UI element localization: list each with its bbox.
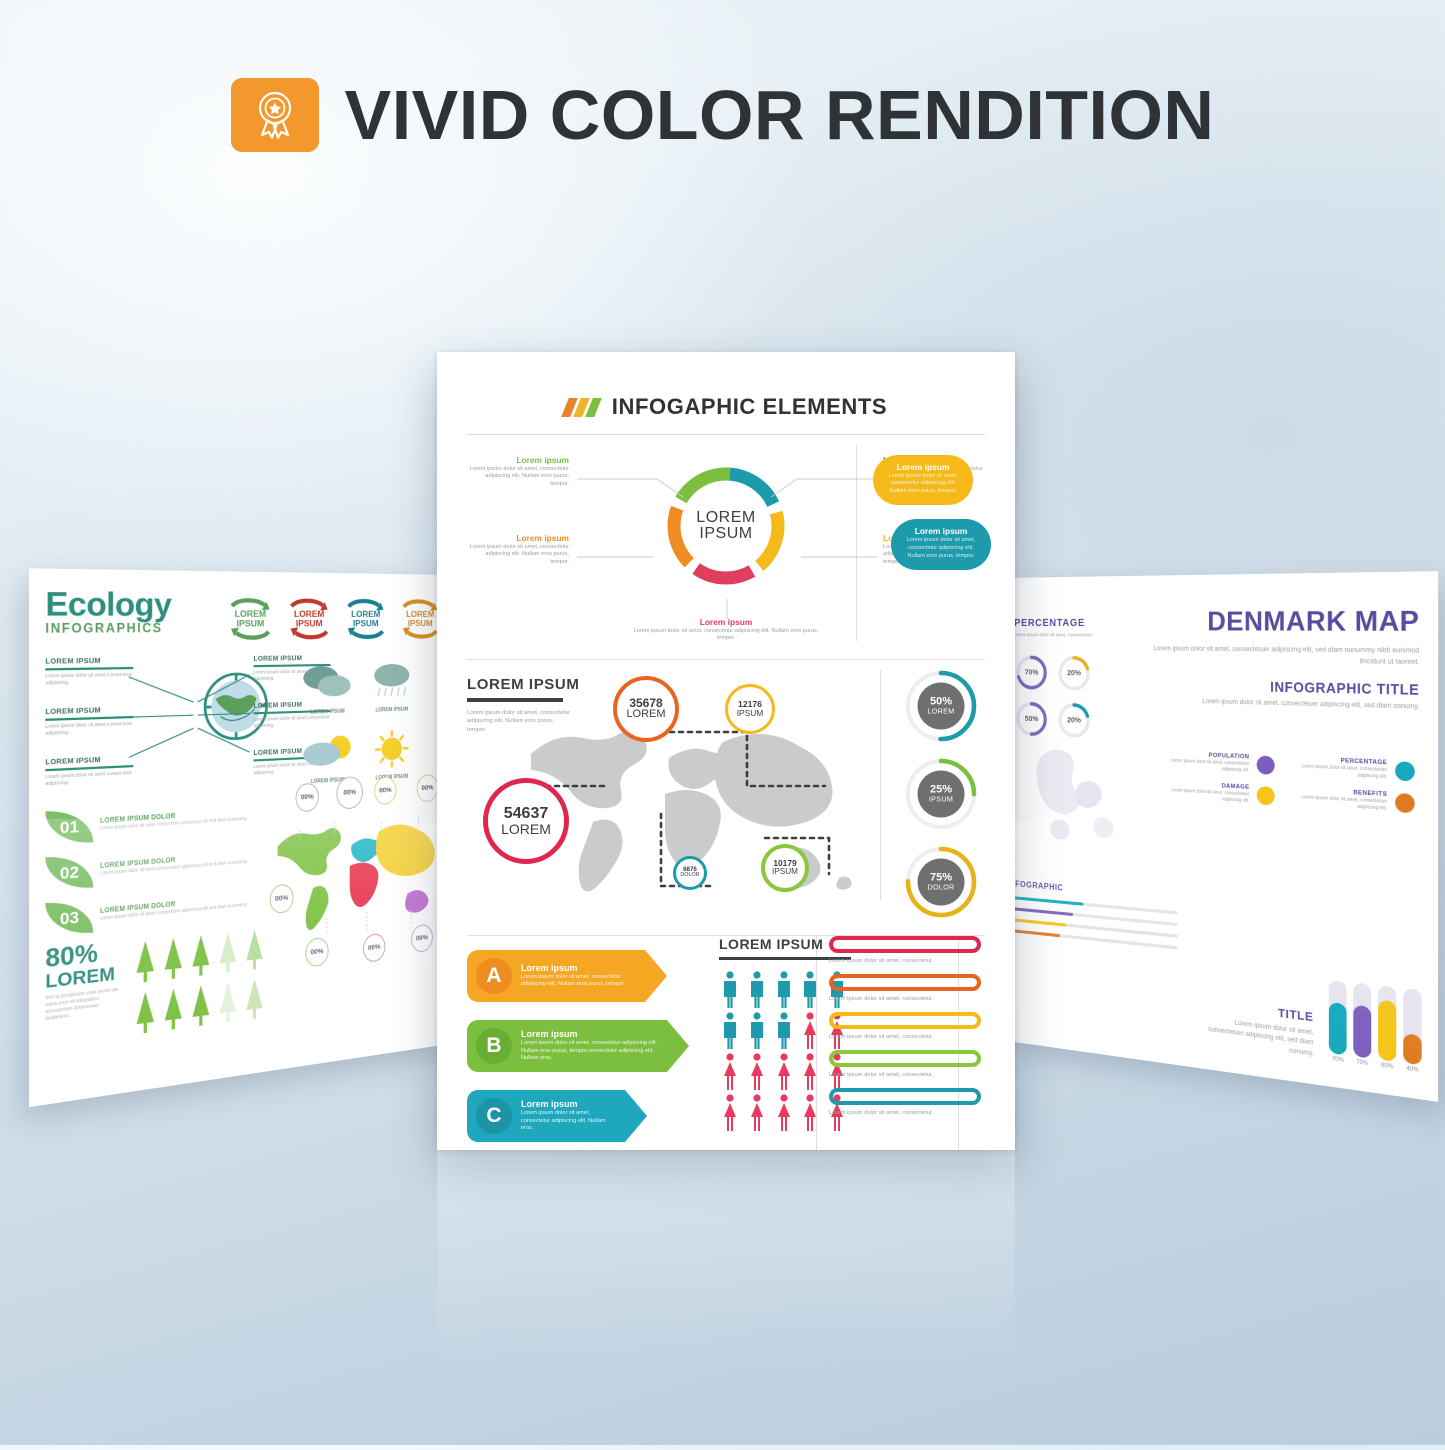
person-male-icon bbox=[773, 1011, 795, 1049]
poster-reflection bbox=[437, 1150, 1015, 1450]
percent-block: 80% LOREM Sed ut perspiciatis unde omnis… bbox=[45, 939, 120, 1022]
pill-list: Lorem ipsum dolor sit amet, consectetur.… bbox=[829, 936, 981, 1127]
denmark-map-title: DENMARK MAP bbox=[1142, 606, 1419, 639]
tree-icon bbox=[217, 929, 240, 977]
accent-bars-icon bbox=[565, 398, 598, 417]
recycle-badge-line2: IPSUM bbox=[408, 619, 433, 628]
progress-ring-core: 50% LOREM bbox=[918, 683, 965, 730]
tree-icon bbox=[162, 985, 186, 1034]
section-heading: LOREM IPSUM bbox=[467, 676, 579, 693]
tree-icon bbox=[189, 932, 212, 980]
timeline-bars: INFOGRAPHIC bbox=[1007, 879, 1177, 958]
person-female-icon bbox=[746, 1093, 768, 1131]
map-marker: 00% bbox=[363, 933, 385, 963]
recycle-badge-line2: IPSUM bbox=[353, 619, 379, 628]
stat-circle: 54637 LOREM bbox=[483, 778, 569, 864]
stat-circle: 6876 DOLOR bbox=[673, 856, 707, 890]
percent-ring: 20% bbox=[1056, 653, 1092, 693]
header-banner: VIVID COLOR RENDITION bbox=[0, 78, 1445, 152]
sun-cloud-icon bbox=[299, 731, 355, 773]
legend-dot bbox=[1257, 786, 1275, 805]
map-marker: 00% bbox=[417, 774, 439, 803]
pill-shape bbox=[829, 1012, 981, 1029]
arrow-letter: B bbox=[476, 1028, 512, 1064]
tree-pictogram-group bbox=[133, 926, 265, 1038]
leaf-item: 01 LOREM IPSUM DOLOR Lorem ipsum dolor s… bbox=[45, 798, 271, 846]
percent-ring: 70% bbox=[1014, 653, 1049, 692]
map-marker: 00% bbox=[336, 776, 363, 810]
legend-dot bbox=[1257, 756, 1275, 775]
stat-circle: 10179 IPSUM bbox=[761, 844, 809, 892]
tree-icon bbox=[133, 937, 157, 986]
denmark-silhouette bbox=[1009, 716, 1180, 902]
donut-label: Lorem ipsum Lorem ipsum dolor sit amet, … bbox=[469, 455, 569, 489]
stat-circle: 12176 IPSUM bbox=[725, 684, 775, 734]
leaf-icon: 02 bbox=[45, 854, 93, 892]
recycle-badge-group: LOREM IPSUM LOREM IPSUM bbox=[222, 595, 446, 643]
arrow-banner-group: A Lorem ipsum Lorem ipsum dolor sit amet… bbox=[467, 950, 697, 1150]
bottom-section: A Lorem ipsum Lorem ipsum dolor sit amet… bbox=[467, 935, 985, 1150]
legend-item: PERCENTAGE Lorem ipsum dolor sit amet, c… bbox=[1288, 756, 1415, 782]
person-male-icon bbox=[746, 970, 768, 1008]
progress-ring: 75% DOLOR bbox=[903, 844, 979, 920]
person-male-icon bbox=[719, 1011, 741, 1049]
sun-icon bbox=[370, 729, 412, 770]
page-title: VIVID COLOR RENDITION bbox=[345, 80, 1215, 150]
progress-ring-core: 75% DOLOR bbox=[918, 859, 965, 906]
infographic-title: INFOGRAPHIC TITLE bbox=[1142, 677, 1419, 698]
person-female-icon bbox=[773, 1093, 795, 1131]
map-marker: 00% bbox=[305, 937, 328, 968]
recycle-badge-line2: IPSUM bbox=[237, 619, 265, 629]
ecology-poster[interactable]: Ecology INFOGRAPHICS LOREM IPSUM bbox=[29, 568, 456, 1107]
percentage-heading: PERCENTAGE bbox=[1014, 618, 1126, 629]
callout-bubble-group: Lorem ipsum Lorem ipsum dolor sit amet, … bbox=[873, 455, 993, 570]
arrow-banner[interactable]: A Lorem ipsum Lorem ipsum dolor sit amet… bbox=[467, 950, 697, 1008]
map-marker: 00% bbox=[295, 783, 318, 813]
person-female-icon bbox=[799, 1011, 821, 1049]
leaf-icon: 01 bbox=[45, 809, 93, 846]
legend-item: BENEFITS Lorem ipsum dolor sit amet, con… bbox=[1288, 786, 1415, 813]
pill-shape bbox=[829, 1050, 981, 1067]
progress-ring-core: 25% IPSUM bbox=[918, 771, 965, 818]
tree-icon bbox=[189, 982, 212, 1031]
tree-icon bbox=[243, 976, 265, 1024]
weather-item: LOREM IPSUM bbox=[299, 662, 355, 716]
person-female-icon bbox=[799, 1093, 821, 1131]
infographic-elements-poster[interactable]: INFOGAPHIC ELEMENTS bbox=[437, 352, 1015, 1150]
tree-icon bbox=[243, 926, 265, 973]
rain-cloud-icon bbox=[367, 662, 417, 702]
arrow-letter: A bbox=[476, 958, 512, 994]
person-female-icon bbox=[799, 1052, 821, 1090]
person-female-icon bbox=[773, 1052, 795, 1090]
pill-shape bbox=[829, 936, 981, 953]
person-female-icon bbox=[719, 1093, 741, 1131]
poster-title: INFOGAPHIC ELEMENTS bbox=[612, 394, 887, 420]
eco-node: LOREM IPSUM Lorem ipsum dolor sit amet c… bbox=[45, 657, 133, 687]
eco-node: LOREM IPSUM Lorem ipsum dolor sit amet c… bbox=[45, 706, 133, 737]
arrow-letter: C bbox=[476, 1098, 512, 1134]
bar-chart: 70% 70% 80% 40% bbox=[1329, 980, 1422, 1075]
leaf-icon: 03 bbox=[45, 899, 93, 938]
pill-shape bbox=[829, 974, 981, 991]
progress-ring: 25% IPSUM bbox=[903, 756, 979, 832]
recycle-badge: LOREM IPSUM bbox=[222, 595, 279, 643]
person-female-icon bbox=[746, 1052, 768, 1090]
map-stats-section: LOREM IPSUM Lorem ipsum dolor sit amet, … bbox=[467, 659, 985, 927]
denmark-map-poster[interactable]: PERCENTAGE Lorem ipsum dolor sit amet, c… bbox=[1000, 571, 1438, 1102]
poster-header: INFOGAPHIC ELEMENTS bbox=[467, 394, 985, 420]
progress-ring-group: 50% LOREM 25% IPSUM bbox=[903, 668, 979, 932]
donut-label: Lorem ipsum Lorem ipsum dolor sit amet, … bbox=[469, 533, 569, 567]
arrow-banner[interactable]: C Lorem ipsum Lorem ipsum dolor sit amet… bbox=[467, 1090, 697, 1148]
person-male-icon bbox=[719, 970, 741, 1008]
map-marker: 00% bbox=[374, 776, 396, 805]
stat-circle: 35678 LOREM bbox=[613, 676, 679, 742]
legend-dot bbox=[1395, 761, 1415, 781]
weather-item: LOREM IPSUM bbox=[370, 729, 412, 782]
person-male-icon bbox=[773, 970, 795, 1008]
leaf-item: 02 LOREM IPSUM DOLOR Lorem ipsum dolor s… bbox=[45, 841, 271, 892]
tree-icon bbox=[217, 979, 240, 1027]
recycle-badge: LOREM IPSUM bbox=[339, 596, 392, 642]
map-marker: 00% bbox=[411, 923, 433, 953]
callout-bubble[interactable]: Lorem ipsum Lorem ipsum dolor sit amet, … bbox=[891, 519, 991, 569]
legend-item: POPULATION Lorem ipsum dolor sit amet, c… bbox=[1158, 750, 1275, 774]
callout-bubble[interactable]: Lorem ipsum Lorem ipsum dolor sit amet, … bbox=[873, 455, 973, 505]
award-ribbon-icon bbox=[231, 78, 319, 152]
scene: VIVID COLOR RENDITION Ecology INFOGRAPHI… bbox=[0, 0, 1445, 1445]
donut-label: Lorem ipsum Lorem ipsum dolor sit amet, … bbox=[631, 617, 821, 643]
legend-dot bbox=[1395, 793, 1415, 813]
clouds-icon bbox=[299, 662, 355, 703]
progress-ring: 50% LOREM bbox=[903, 668, 979, 744]
tree-icon bbox=[133, 988, 157, 1038]
donut-section: LOREM IPSUM Lorem ipsum Lorem ip bbox=[467, 449, 985, 649]
weather-item: LOREM IPSUM bbox=[367, 662, 417, 714]
tree-icon bbox=[162, 935, 186, 984]
pill-shape bbox=[829, 1088, 981, 1105]
person-female-icon bbox=[719, 1052, 741, 1090]
recycle-badge-line2: IPSUM bbox=[296, 619, 323, 629]
person-male-icon bbox=[799, 970, 821, 1008]
person-male-icon bbox=[746, 1011, 768, 1049]
eco-node: LOREM IPSUM Lorem ipsum dolor sit amet c… bbox=[45, 755, 133, 788]
recycle-badge: LOREM IPSUM bbox=[282, 596, 337, 643]
arrow-banner[interactable]: B Lorem ipsum Lorem ipsum dolor sit amet… bbox=[467, 1020, 697, 1078]
